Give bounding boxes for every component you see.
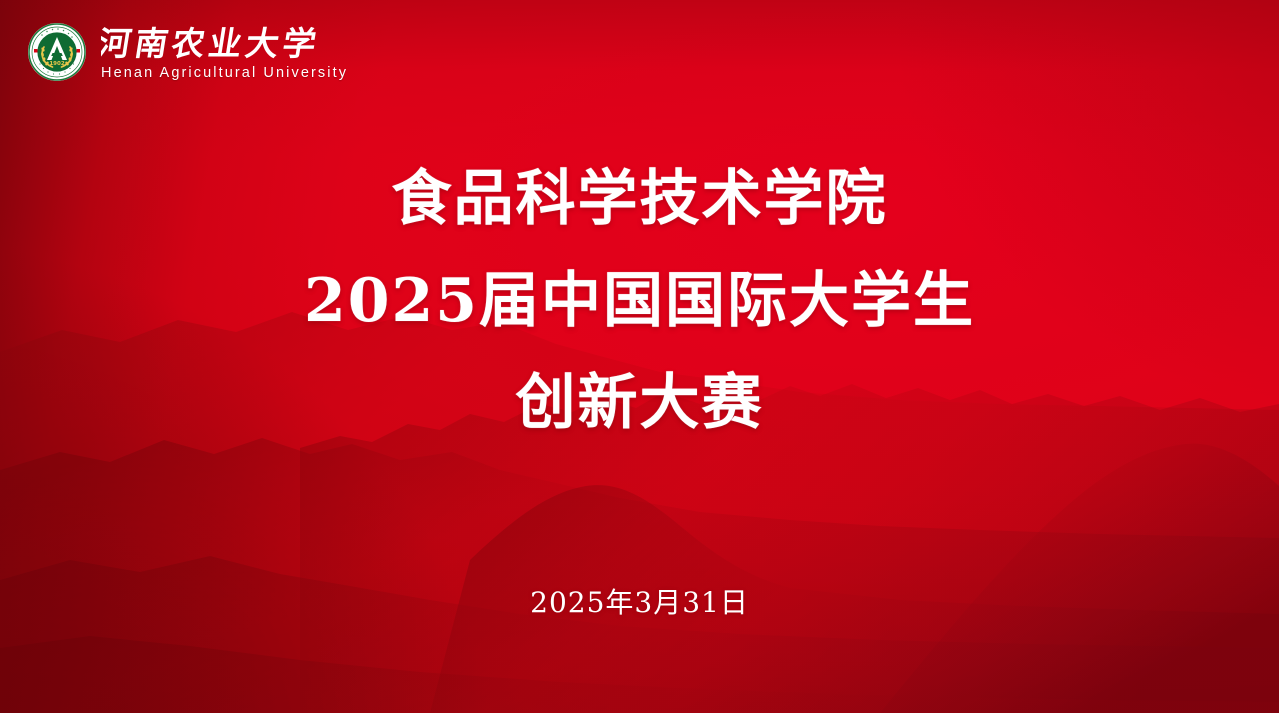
background-corner-vignette <box>0 0 1279 713</box>
university-name-lockup: 河南农业大学 Henan Agricultural University <box>101 21 369 84</box>
university-emblem-icon: 1902 <box>27 22 87 82</box>
presentation-slide: 1902 河南农业大学 Henan Agricultural Universit… <box>0 0 1279 713</box>
university-name-en: Henan Agricultural University <box>101 66 369 81</box>
university-name-cn-text: 河南农业大学 <box>101 24 323 63</box>
university-logo: 1902 河南农业大学 Henan Agricultural Universit… <box>27 18 369 86</box>
university-name-cn: 河南农业大学 <box>101 24 369 64</box>
emblem-year-text: 1902 <box>49 61 64 67</box>
